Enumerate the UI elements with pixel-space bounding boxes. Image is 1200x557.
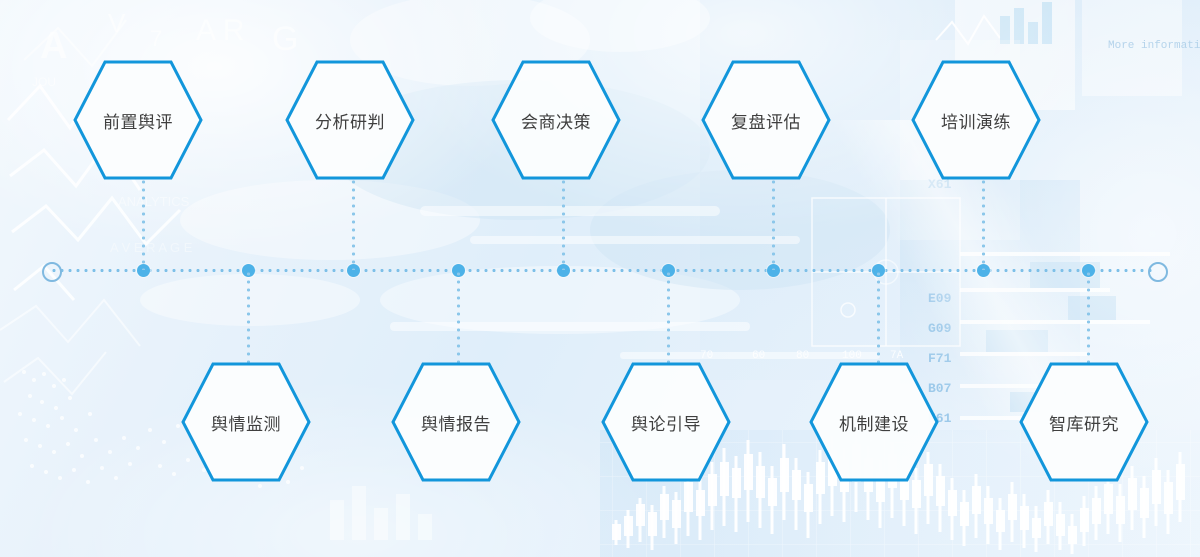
hexagon-label: 舆情监测 <box>180 361 312 483</box>
hexagon-label: 培训演练 <box>910 59 1042 181</box>
hexagon-label: 舆情报告 <box>390 361 522 483</box>
hexagon-label: 会商决策 <box>490 59 622 181</box>
timeline-end-marker <box>1148 262 1168 282</box>
timeline-start-marker <box>42 262 62 282</box>
connector-line-bottom-5 <box>1087 270 1090 364</box>
connector-line-top-3 <box>562 178 565 270</box>
hexagon-node-top-1[interactable]: 前置舆评 <box>72 59 204 181</box>
timeline-axis <box>50 269 1156 272</box>
hexagon-node-bottom-5[interactable]: 智库研究 <box>1018 361 1150 483</box>
connector-line-bottom-2 <box>457 270 460 364</box>
hexagon-label: 复盘评估 <box>700 59 832 181</box>
hexagon-label: 舆论引导 <box>600 361 732 483</box>
hexagon-label: 前置舆评 <box>72 59 204 181</box>
connector-line-bottom-1 <box>247 270 250 364</box>
infographic-canvas: A V 7 A R G JOU ANALYTICS A V E R A G E <box>0 0 1200 557</box>
hexagon-label: 机制建设 <box>808 361 940 483</box>
hexagon-node-bottom-1[interactable]: 舆情监测 <box>180 361 312 483</box>
connector-line-top-4 <box>772 178 775 270</box>
connector-line-bottom-4 <box>877 270 880 364</box>
connector-line-top-5 <box>982 178 985 270</box>
hexagon-node-top-5[interactable]: 培训演练 <box>910 59 1042 181</box>
hexagon-label: 分析研判 <box>284 59 416 181</box>
hexagon-node-bottom-2[interactable]: 舆情报告 <box>390 361 522 483</box>
hexagon-label: 智库研究 <box>1018 361 1150 483</box>
hexagon-node-bottom-4[interactable]: 机制建设 <box>808 361 940 483</box>
hexagon-node-top-4[interactable]: 复盘评估 <box>700 59 832 181</box>
hexagon-node-top-2[interactable]: 分析研判 <box>284 59 416 181</box>
connector-line-bottom-3 <box>667 270 670 364</box>
hexagon-node-top-3[interactable]: 会商决策 <box>490 59 622 181</box>
hexagon-node-bottom-3[interactable]: 舆论引导 <box>600 361 732 483</box>
connector-line-top-1 <box>142 178 145 270</box>
connector-line-top-2 <box>352 178 355 270</box>
